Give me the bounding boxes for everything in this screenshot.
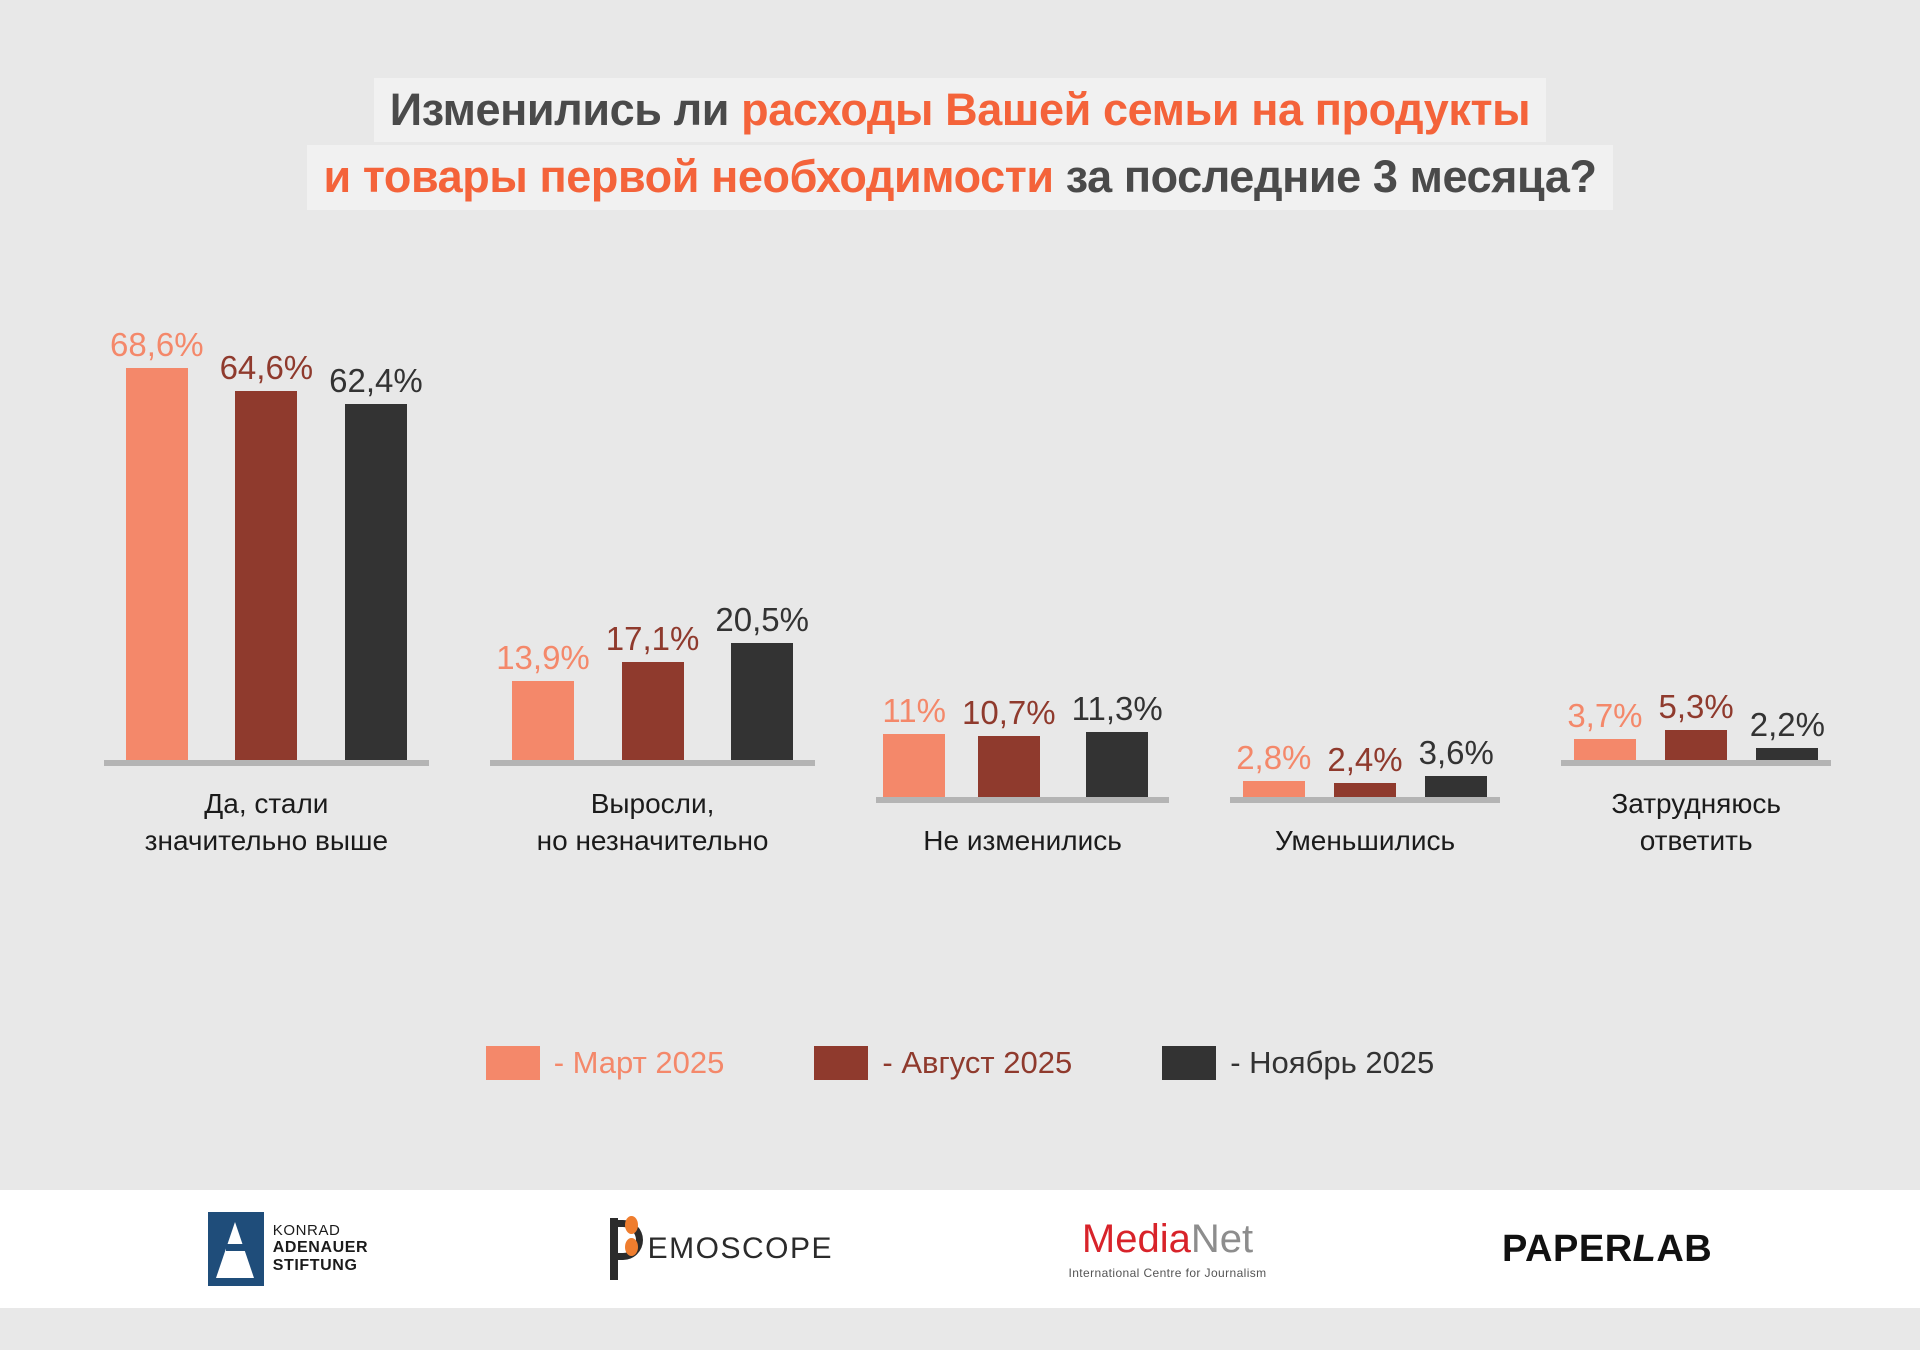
- bar-value-label: 68,6%: [110, 328, 204, 361]
- chart-group: 2,8%2,4%3,6%Уменьшились: [1236, 300, 1494, 860]
- category-label: Выросли, но незначительно: [537, 786, 769, 860]
- bar-value-label: 11%: [882, 694, 946, 727]
- bar-chart: 68,6%64,6%62,4%Да, стали значительно выш…: [0, 300, 1920, 860]
- bar[interactable]: [1243, 781, 1305, 797]
- medianet-subtitle: International Centre for Journalism: [1068, 1266, 1266, 1280]
- axis-baseline: [104, 760, 429, 766]
- bar-value-label: 2,8%: [1236, 741, 1311, 774]
- bar[interactable]: [883, 734, 945, 797]
- bar-value-label: 17,1%: [606, 622, 700, 655]
- legend-item[interactable]: - Март 2025: [486, 1045, 725, 1081]
- title-text-highlight-1: расходы Вашей семьи на продукты: [741, 84, 1530, 135]
- legend-swatch: [486, 1046, 540, 1080]
- chart-group: 3,7%5,3%2,2%Затрудняюсь ответить: [1567, 300, 1825, 860]
- bar-column[interactable]: 5,3%: [1659, 300, 1734, 760]
- demoscope-wordmark: EMOSCOPE: [648, 1232, 833, 1266]
- bar[interactable]: [622, 662, 684, 760]
- page-title: Изменились ли расходы Вашей семьи на про…: [0, 78, 1920, 210]
- bar[interactable]: [978, 736, 1040, 797]
- bar-column[interactable]: 11,3%: [1072, 300, 1163, 797]
- bar[interactable]: [1086, 732, 1148, 797]
- title-text-plain-1: Изменились ли: [390, 84, 741, 135]
- bar-value-label: 64,6%: [220, 351, 314, 384]
- bar-column[interactable]: 20,5%: [715, 300, 809, 760]
- paperlab-part-3: AB: [1656, 1228, 1712, 1271]
- legend-item[interactable]: - Август 2025: [814, 1045, 1072, 1081]
- chart-group-bars: 11%10,7%11,3%: [882, 300, 1162, 797]
- demoscope-mark-icon: [604, 1214, 644, 1284]
- bar-value-label: 11,3%: [1072, 692, 1163, 725]
- bar-column[interactable]: 17,1%: [606, 300, 700, 760]
- bar-value-label: 3,7%: [1567, 699, 1642, 732]
- paperlab-part-2: L: [1633, 1228, 1657, 1271]
- title-text-highlight-2: и товары первой необходимости: [323, 151, 1053, 202]
- bar-value-label: 20,5%: [715, 603, 809, 636]
- bar-value-label: 13,9%: [496, 641, 590, 674]
- bar[interactable]: [1665, 730, 1727, 760]
- logo-konrad-adenauer-stiftung: KONRAD ADENAUER STIFTUNG: [208, 1212, 368, 1286]
- logo-demoscope: EMOSCOPE: [604, 1214, 833, 1284]
- bar[interactable]: [1425, 776, 1487, 797]
- bar-column[interactable]: 3,6%: [1419, 300, 1494, 797]
- medianet-part-net: Net: [1191, 1217, 1253, 1261]
- chart-legend: - Март 2025- Август 2025- Ноябрь 2025: [0, 1045, 1920, 1081]
- chart-group-bars: 3,7%5,3%2,2%: [1567, 300, 1825, 760]
- bar-column[interactable]: 13,9%: [496, 300, 590, 760]
- footer-logos: KONRAD ADENAUER STIFTUNG EMOSCOPE MediaN…: [0, 1190, 1920, 1308]
- chart-group-bars: 68,6%64,6%62,4%: [110, 300, 423, 760]
- kas-mark-icon: [208, 1212, 264, 1286]
- chart-group: 13,9%17,1%20,5%Выросли, но незначительно: [496, 300, 809, 860]
- chart-group-bars: 13,9%17,1%20,5%: [496, 300, 809, 760]
- bar-column[interactable]: 68,6%: [110, 300, 204, 760]
- bar[interactable]: [1334, 783, 1396, 797]
- bar-column[interactable]: 2,8%: [1236, 300, 1311, 797]
- kas-line-2: ADENAUER: [273, 1239, 368, 1257]
- bar-value-label: 3,6%: [1419, 736, 1494, 769]
- logo-medianet: MediaNet International Centre for Journa…: [1068, 1219, 1266, 1280]
- chart-group: 68,6%64,6%62,4%Да, стали значительно выш…: [110, 300, 423, 860]
- chart-group: 11%10,7%11,3%Не изменились: [882, 300, 1162, 860]
- chart-groups: 68,6%64,6%62,4%Да, стали значительно выш…: [0, 300, 1920, 860]
- bar[interactable]: [731, 643, 793, 760]
- bar-column[interactable]: 62,4%: [329, 300, 423, 760]
- bar[interactable]: [235, 391, 297, 760]
- bar-value-label: 62,4%: [329, 364, 423, 397]
- legend-label: - Август 2025: [882, 1045, 1072, 1081]
- kas-line-3: STIFTUNG: [273, 1257, 368, 1275]
- legend-swatch: [814, 1046, 868, 1080]
- bar-column[interactable]: 2,2%: [1750, 300, 1825, 760]
- bar-value-label: 10,7%: [962, 696, 1056, 729]
- chart-group-bars: 2,8%2,4%3,6%: [1236, 300, 1494, 797]
- title-line-2: и товары первой необходимости за последн…: [307, 145, 1612, 209]
- bar-value-label: 2,2%: [1750, 708, 1825, 741]
- title-text-plain-2: за последние 3 месяца?: [1054, 151, 1597, 202]
- axis-baseline: [876, 797, 1168, 803]
- title-line-1: Изменились ли расходы Вашей семьи на про…: [374, 78, 1546, 142]
- category-label: Не изменились: [923, 823, 1122, 860]
- paperlab-part-1: PAPER: [1502, 1228, 1633, 1271]
- bar[interactable]: [512, 681, 574, 760]
- legend-item[interactable]: - Ноябрь 2025: [1162, 1045, 1434, 1081]
- category-label: Да, стали значительно выше: [145, 786, 388, 860]
- legend-label: - Март 2025: [554, 1045, 725, 1081]
- medianet-part-media: Media: [1082, 1217, 1191, 1261]
- bar-column[interactable]: 10,7%: [962, 300, 1056, 797]
- bar-column[interactable]: 11%: [882, 300, 946, 797]
- bar-column[interactable]: 64,6%: [220, 300, 314, 760]
- category-label: Уменьшились: [1275, 823, 1455, 860]
- axis-baseline: [490, 760, 815, 766]
- axis-baseline: [1230, 797, 1500, 803]
- bar[interactable]: [1756, 748, 1818, 761]
- bar[interactable]: [1574, 739, 1636, 760]
- bar-column[interactable]: 3,7%: [1567, 300, 1642, 760]
- logo-paperlab: PAPERLAB: [1502, 1228, 1712, 1271]
- bar-value-label: 2,4%: [1327, 743, 1402, 776]
- axis-baseline: [1561, 760, 1831, 766]
- category-label: Затрудняюсь ответить: [1611, 786, 1781, 860]
- bar-column[interactable]: 2,4%: [1327, 300, 1402, 797]
- bar[interactable]: [126, 368, 188, 760]
- bar-value-label: 5,3%: [1659, 690, 1734, 723]
- bar[interactable]: [345, 404, 407, 761]
- kas-line-1: KONRAD: [273, 1223, 368, 1240]
- legend-label: - Ноябрь 2025: [1230, 1045, 1434, 1081]
- legend-swatch: [1162, 1046, 1216, 1080]
